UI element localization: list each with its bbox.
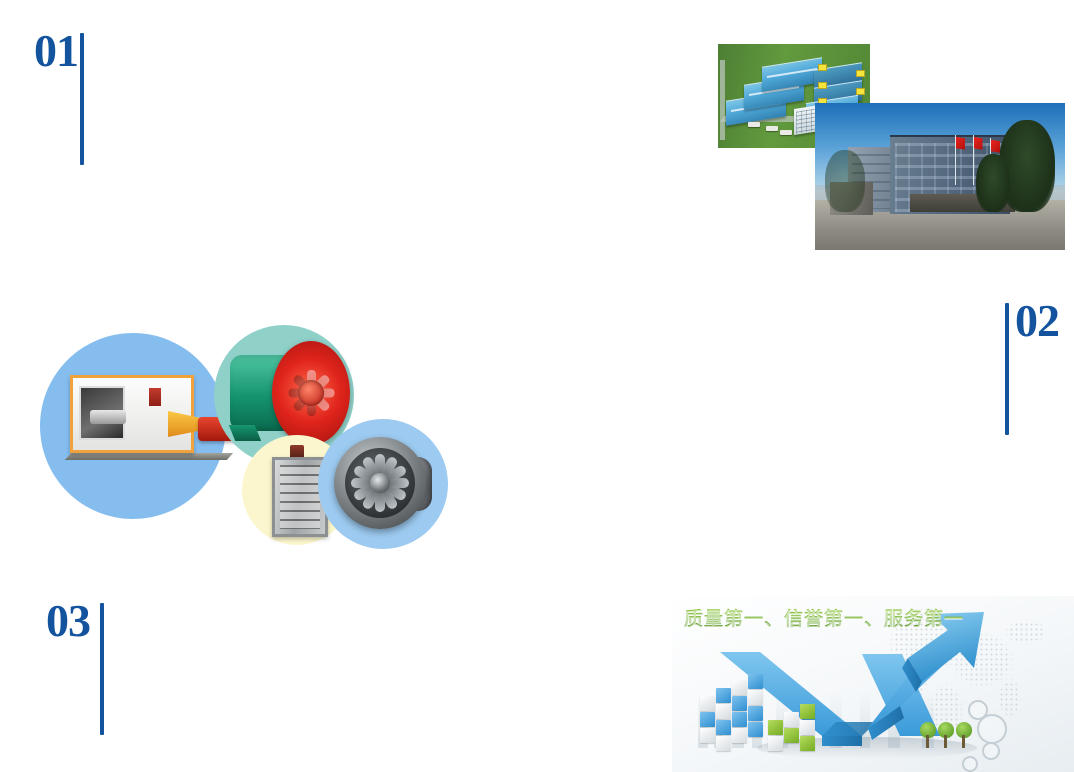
- growth-chart-banner: 质量第一、信誉第一、服务第一: [672, 596, 1074, 772]
- green-tree: [920, 722, 936, 748]
- fan-control-panel: [149, 388, 161, 406]
- cube: [784, 728, 799, 743]
- fan-belt-guard: [168, 411, 202, 437]
- render-marker-tab: [818, 64, 827, 71]
- section-marker-01: 01: [34, 28, 84, 165]
- render-marker-tab: [818, 82, 827, 89]
- section-number-01: 01: [34, 28, 78, 74]
- cube: [748, 674, 763, 689]
- damper-handle: [290, 445, 304, 457]
- cube: [716, 688, 731, 703]
- tree-trunk: [926, 735, 929, 748]
- cube: [800, 704, 815, 719]
- tree-trunk: [962, 735, 965, 748]
- section-marker-02: 02: [1005, 298, 1059, 435]
- cube: [768, 736, 783, 751]
- cube: [732, 728, 747, 743]
- render-truck: [748, 122, 760, 127]
- product-axial-fan-impeller: [318, 419, 448, 549]
- cube: [768, 720, 783, 735]
- cube: [716, 704, 731, 719]
- section-rule-01: [80, 33, 84, 165]
- cube: [700, 696, 715, 711]
- cube: [732, 712, 747, 727]
- green-white-cube-stack: [768, 704, 816, 752]
- section-number-03: 03: [46, 598, 90, 644]
- impeller-shroud-ring: [334, 437, 426, 529]
- red-flag: [956, 137, 965, 150]
- render-road-vertical: [720, 60, 725, 140]
- cube: [716, 720, 731, 735]
- axial-fan-rotor: [272, 341, 350, 445]
- impeller-hub: [370, 473, 390, 493]
- red-flag: [974, 137, 983, 150]
- cube: [748, 690, 763, 705]
- decorative-bubble: [977, 714, 1007, 744]
- cube: [732, 696, 747, 711]
- section-rule-03: [100, 603, 104, 735]
- section-number-02: 02: [1015, 298, 1059, 344]
- render-marker-tab: [856, 88, 865, 95]
- cube: [748, 722, 763, 737]
- cube: [700, 712, 715, 727]
- decorative-bubble: [962, 756, 978, 772]
- office-building-image: [815, 103, 1065, 250]
- cube: [800, 736, 815, 751]
- cube: [748, 706, 763, 721]
- impeller-blade-disc: [345, 448, 415, 518]
- page-canvas: 01 02 03: [0, 0, 1074, 772]
- section-marker-03: 03: [46, 598, 104, 735]
- banner-slogan-text: 质量第一、信誉第一、服务第一: [684, 604, 964, 631]
- fan-base-frame: [65, 453, 233, 460]
- cube: [800, 720, 815, 735]
- tree-trunk: [944, 735, 947, 748]
- conifer-tree: [976, 154, 1010, 212]
- green-tree: [956, 722, 972, 748]
- render-marker-tab: [856, 70, 865, 77]
- cube: [784, 712, 799, 727]
- bare-tree: [825, 150, 865, 212]
- shed-ridge: [767, 68, 817, 78]
- flag-pole: [955, 135, 956, 185]
- decorative-bubble: [982, 742, 1000, 760]
- fan-inner-impeller: [90, 410, 126, 424]
- cube: [716, 736, 731, 751]
- product-cabinet-centrifugal-fan: [40, 333, 226, 519]
- cube: [732, 680, 747, 695]
- section-rule-02: [1005, 303, 1009, 435]
- fan-inlet-opening: [79, 386, 125, 440]
- red-flag: [991, 140, 1000, 153]
- product-circle-collage: [36, 325, 428, 550]
- green-tree: [938, 722, 954, 748]
- render-truck: [766, 126, 778, 131]
- flag-pole: [973, 135, 974, 185]
- rotor-hub: [298, 380, 324, 406]
- blue-white-cube-stack: [700, 674, 772, 748]
- render-truck: [780, 130, 792, 135]
- cube: [700, 728, 715, 743]
